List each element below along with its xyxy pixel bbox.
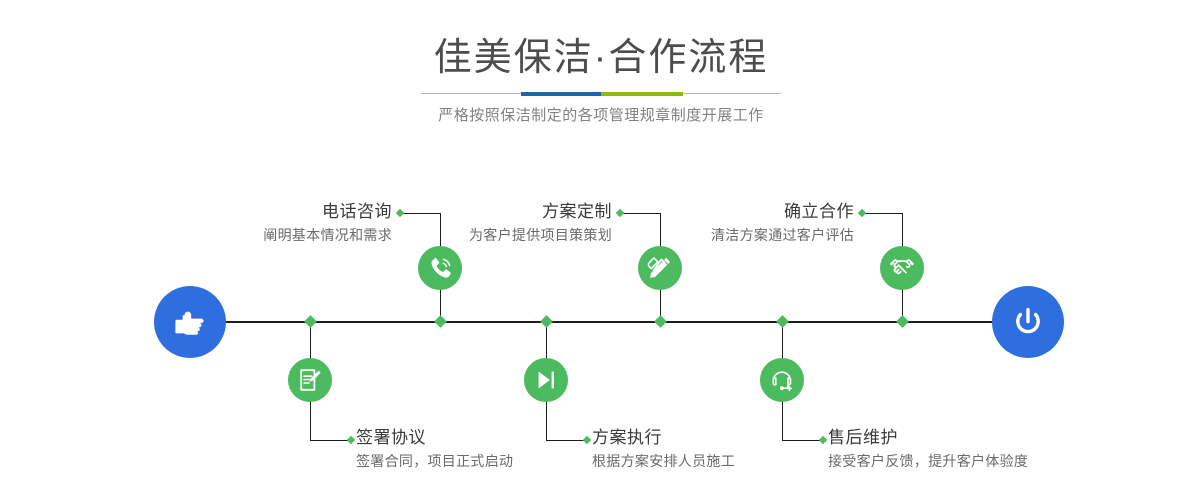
- connector-horizontal-establish-cooperation: [862, 213, 903, 214]
- axis-marker-plan-customize: [654, 315, 667, 328]
- flow-start-endpoint: [154, 286, 226, 358]
- process-flow-diagram: 电话咨询 阐明基本情况和需求 签署协议 签署合同，项目正式启动: [0, 150, 1202, 502]
- node-title-after-sales: 售后维护: [828, 426, 1128, 450]
- node-desc-after-sales: 接受客户反馈，提升客户体验度: [828, 450, 1128, 472]
- node-desc-plan-customize: 为客户提供项目策策划: [340, 224, 612, 246]
- page-title: 佳美保洁·合作流程: [0, 34, 1202, 82]
- power-icon: [1008, 302, 1048, 342]
- phone-call-icon: [426, 254, 454, 282]
- document-edit-icon: [297, 367, 323, 393]
- handshake-icon: [888, 254, 916, 282]
- axis-marker-phone-consult: [434, 315, 447, 328]
- axis-marker-establish-cooperation: [896, 315, 909, 328]
- pencil-ruler-icon: [647, 255, 673, 281]
- milestone-plan-execute[interactable]: [524, 358, 568, 402]
- divider-segment-green: [601, 92, 683, 96]
- node-desc-establish-cooperation: 清洁方案通过客户评估: [582, 224, 854, 246]
- page-subtitle: 严格按照保洁制定的各项管理规章制度开展工作: [0, 105, 1202, 127]
- milestone-plan-customize[interactable]: [638, 246, 682, 290]
- label-marker-establish-cooperation: [858, 209, 866, 217]
- flow-end-endpoint: [992, 286, 1064, 358]
- title-divider: [421, 92, 781, 96]
- milestone-sign-agreement[interactable]: [288, 358, 332, 402]
- milestone-phone-consult[interactable]: [418, 246, 462, 290]
- node-label-plan-customize: 方案定制 为客户提供项目策策划: [340, 200, 612, 246]
- play-execute-icon: [533, 367, 559, 393]
- milestone-establish-cooperation[interactable]: [880, 246, 924, 290]
- node-label-establish-cooperation: 确立合作 清洁方案通过客户评估: [582, 200, 854, 246]
- label-marker-sign-agreement: [347, 436, 355, 444]
- node-label-after-sales: 售后维护 接受客户反馈，提升客户体验度: [828, 426, 1128, 472]
- pointing-hand-icon: [170, 302, 210, 342]
- axis-marker-after-sales: [776, 315, 789, 328]
- connector-horizontal-sign-agreement: [310, 440, 351, 441]
- page-header: 佳美保洁·合作流程 严格按照保洁制定的各项管理规章制度开展工作: [0, 0, 1202, 150]
- node-title-plan-customize: 方案定制: [340, 200, 612, 224]
- customer-service-icon: [769, 367, 795, 393]
- divider-segment-blue: [521, 92, 601, 96]
- axis-marker-plan-execute: [540, 315, 553, 328]
- axis-marker-sign-agreement: [304, 315, 317, 328]
- milestone-after-sales[interactable]: [760, 358, 804, 402]
